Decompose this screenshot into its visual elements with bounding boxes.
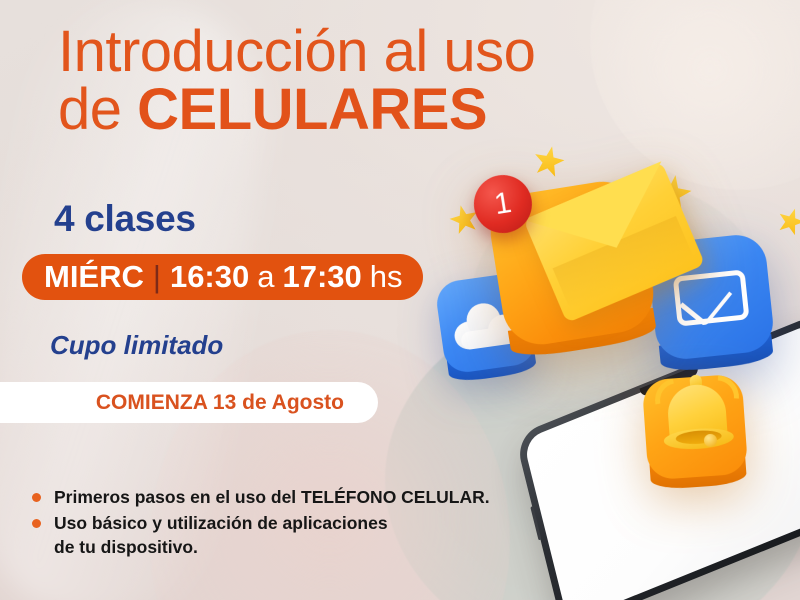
promo-poster: 1 Introducción al uso de CELULARES 4 cla… <box>0 0 800 600</box>
notification-badge-count: 1 <box>492 186 514 222</box>
schedule-connector: a <box>257 259 274 295</box>
title-line-2-keyword: CELULARES <box>137 77 487 142</box>
list-item-line-1: Uso básico y utilización de aplicaciones <box>54 513 388 533</box>
list-item: Uso básico y utilización de aplicaciones… <box>30 511 490 559</box>
mail-app-icon: 1 <box>485 176 659 350</box>
bell-glyph-icon <box>659 368 735 459</box>
title-line-2: de CELULARES <box>58 82 678 138</box>
schedule-end-time: 17:30 <box>283 259 362 295</box>
schedule-pill: MIÉRC | 16:30 a 17:30 hs <box>22 254 423 300</box>
poster-title: Introducción al uso de CELULARES <box>58 24 678 137</box>
list-item: Primeros pasos en el uso del TELÉFONO CE… <box>30 485 490 509</box>
mail-glyph-icon <box>673 269 750 326</box>
star-icon <box>775 205 800 238</box>
list-item-line-2: de tu dispositivo. <box>54 537 198 557</box>
course-topics-list: Primeros pasos en el uso del TELÉFONO CE… <box>30 485 490 561</box>
title-line-1: Introducción al uso <box>58 24 678 80</box>
start-date-pill: COMIENZA 13 de Agosto <box>0 382 378 423</box>
availability-note: Cupo limitado <box>50 330 223 361</box>
schedule-day: MIÉRC <box>44 259 144 295</box>
start-date-text: COMIENZA 13 de Agosto <box>96 391 344 415</box>
bell-app-icon <box>642 374 749 481</box>
star-icon <box>531 143 567 179</box>
schedule-unit: hs <box>370 259 403 295</box>
classes-count: 4 clases <box>54 198 196 240</box>
schedule-separator: | <box>153 259 161 295</box>
schedule-start-time: 16:30 <box>170 259 249 295</box>
title-line-2-prefix: de <box>58 77 137 142</box>
